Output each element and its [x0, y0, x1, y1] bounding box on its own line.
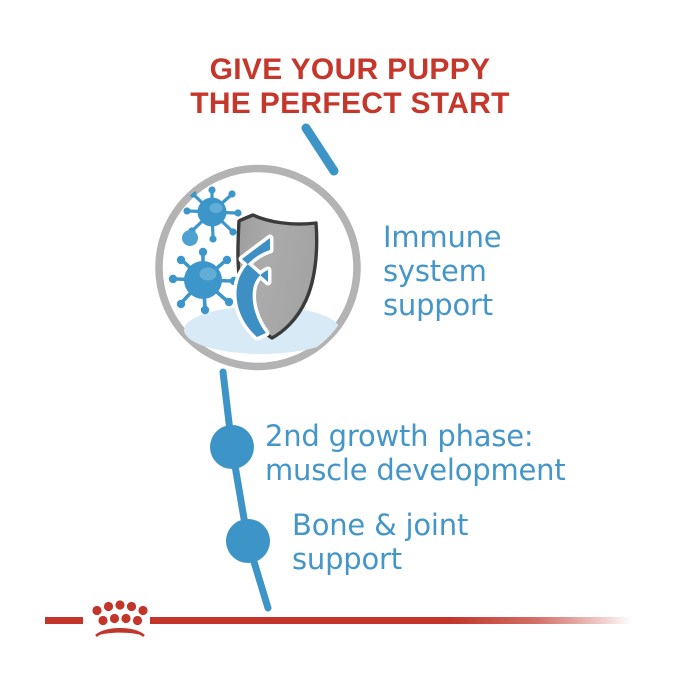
royal-canin-crown-logo [92, 600, 147, 636]
footer-rule-left [45, 617, 83, 624]
node-dot-bone [226, 519, 270, 563]
feature-label-bone: Bone & joint support [292, 509, 468, 577]
virus-dot-icon [182, 230, 198, 246]
infographic-canvas: GIVE YOUR PUPPY THE PERFECT START [0, 0, 700, 700]
feature-label-immune: Immune system support [383, 221, 501, 323]
footer-rule-right [150, 617, 632, 624]
footer-brand-bar [0, 596, 700, 652]
connector-segment-top [306, 128, 334, 171]
benefits-diagram [0, 0, 700, 700]
immune-system-illustration [159, 169, 357, 367]
feature-label-growth: 2nd growth phase: muscle development [265, 420, 566, 488]
node-dot-growth [210, 425, 254, 469]
